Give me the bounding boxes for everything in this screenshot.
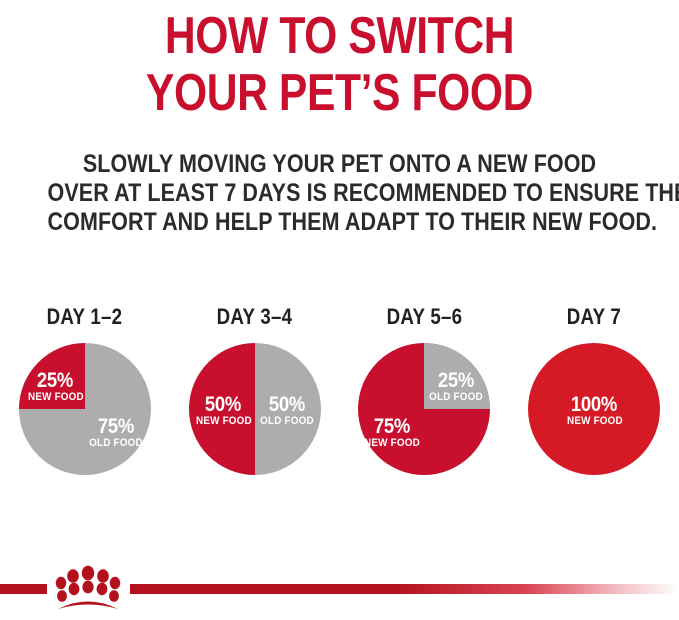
pie-chart-day-5-6: 25% OLD FOOD 75% NEW FOOD — [358, 343, 490, 475]
pie-cell-day-1-2: DAY 1–2 25% NEW FOOD 75% OLD FOOD — [5, 305, 165, 475]
pie-chart-day-1-2: 25% NEW FOOD 75% OLD FOOD — [19, 343, 151, 475]
title-line-2: YOUR PET’S FOOD — [61, 65, 618, 122]
royal-canin-crown-icon — [48, 564, 128, 612]
title-line-1: HOW TO SWITCH — [61, 8, 618, 65]
pie-cell-day-3-4: DAY 3–4 50% NEW FOOD 50% OLD FOOD — [175, 305, 335, 475]
footer-bar-right — [130, 584, 679, 594]
subtitle: SLOWLY MOVING YOUR PET ONTO A NEW FOOD O… — [0, 150, 679, 237]
pie-svg-1 — [19, 343, 151, 475]
pie-chart-day-7: 100% NEW FOOD — [528, 343, 660, 475]
pie-slice-new-food-1 — [19, 343, 85, 409]
pie-slice-new-food-2 — [189, 343, 255, 475]
pie-svg-2 — [189, 343, 321, 475]
footer — [0, 560, 679, 620]
subtitle-line-2: OVER AT LEAST 7 DAYS IS RECOMMENDED TO E… — [48, 179, 632, 208]
day-label-3: DAY 5–6 — [387, 305, 463, 329]
day-label-2: DAY 3–4 — [217, 305, 293, 329]
footer-bar-left — [0, 584, 47, 594]
pie-cell-day-5-6: DAY 5–6 25% OLD FOOD 75% NEW FOOD — [344, 305, 504, 475]
pie-svg-3 — [358, 343, 490, 475]
pie-cell-day-7: DAY 7 100% NEW FOOD — [514, 305, 674, 475]
day-label-1: DAY 1–2 — [47, 305, 123, 329]
page-title: HOW TO SWITCH YOUR PET’S FOOD — [0, 8, 679, 122]
pie-svg-4 — [528, 343, 660, 475]
pie-chart-row: DAY 1–2 25% NEW FOOD 75% OLD FOOD DAY 3–… — [0, 305, 679, 475]
pie-chart-day-3-4: 50% NEW FOOD 50% OLD FOOD — [189, 343, 321, 475]
pie-slice-new-food-4 — [528, 343, 660, 475]
day-label-4: DAY 7 — [567, 305, 621, 329]
subtitle-line-1: SLOWLY MOVING YOUR PET ONTO A NEW FOOD — [48, 150, 632, 179]
pie-slice-old-food-3 — [424, 343, 490, 409]
subtitle-line-3: COMFORT AND HELP THEM ADAPT TO THEIR NEW… — [48, 208, 632, 237]
